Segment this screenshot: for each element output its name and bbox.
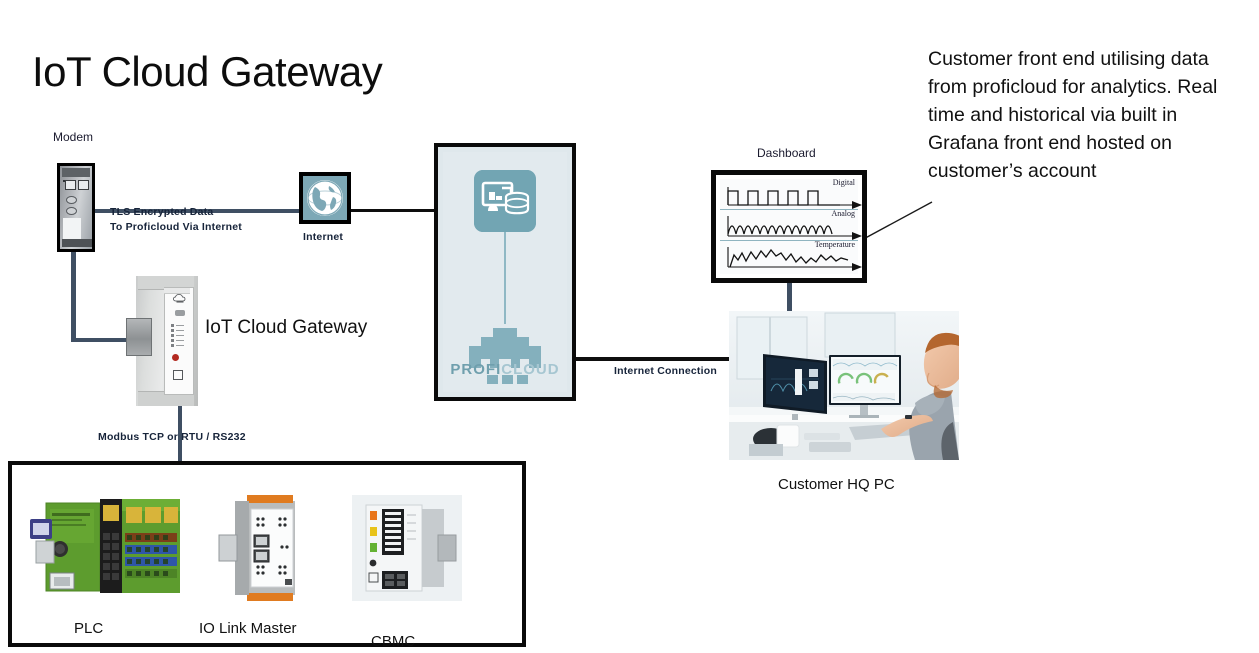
proficloud-panel: PROFICLOUD: [443, 152, 567, 392]
office-scene-illustration: [729, 311, 959, 460]
tls-link-label: TLS Encrypted Data To Proficloud Via Int…: [110, 205, 242, 235]
page-title: IoT Cloud Gateway: [32, 48, 382, 96]
gateway-label: IoT Cloud Gateway: [205, 317, 367, 339]
internet-connection-label: Internet Connection: [614, 364, 717, 379]
wire-proficloud-to-pc: [576, 357, 731, 361]
proficloud-wordmark-cloud: CLOUD: [501, 361, 559, 378]
trace-label-temperature: Temperature: [815, 240, 855, 249]
proficloud-connector-line: [504, 232, 506, 324]
internet-node: [299, 172, 351, 224]
iot-cloud-gateway-device: [126, 276, 200, 406]
wire-dashboard-to-pc: [787, 283, 792, 313]
modem-bottom-strip: [62, 239, 92, 247]
annotation-leader-line: [856, 200, 934, 244]
modem-port: [65, 180, 76, 190]
proficloud-node: PROFICLOUD: [434, 143, 576, 401]
io-link-master-illustration: [217, 495, 313, 601]
trace-analog: Analog: [720, 209, 858, 240]
cbmc-device: [352, 495, 462, 601]
proficloud-wordmark-profi: PROFI: [450, 361, 501, 378]
gateway-led-block: [171, 324, 184, 349]
dashboard-label: Dashboard: [757, 146, 816, 160]
trace-digital: Digital: [720, 179, 858, 209]
gateway-bottom-icon: [173, 370, 183, 380]
modem-port: [78, 180, 89, 190]
cbmc-illustration: [352, 495, 462, 601]
cloud-logo-icon: [173, 294, 187, 303]
modem-top-strip: [62, 168, 90, 177]
modem-ethernet-ports: [65, 180, 89, 190]
gateway-top-label-strip: [164, 288, 190, 294]
plc-device: [26, 493, 186, 603]
modbus-link-label: Modbus TCP or RTU / RS232: [98, 430, 246, 445]
tls-link-label-line1: TLS Encrypted Data: [110, 205, 242, 220]
trace-label-digital: Digital: [833, 178, 855, 187]
trace-temperature: Temperature: [720, 240, 858, 271]
plc-illustration: [26, 493, 186, 603]
wire-modem-down: [71, 252, 76, 342]
gateway-reset-button: [172, 354, 179, 361]
modem-device: [57, 163, 95, 252]
analytics-database-icon: [474, 170, 536, 232]
globe-icon: [307, 180, 343, 216]
dashboard-panel: Digital Analog Temperature: [711, 170, 867, 283]
wire-modem-to-gateway: [71, 338, 133, 342]
customer-pc-photo: [729, 311, 959, 460]
pixel-cloud-icon: [457, 320, 553, 394]
io-link-master-label: IO Link Master: [199, 620, 297, 637]
proficloud-wordmark: PROFICLOUD: [443, 361, 567, 378]
io-link-master-device: [217, 495, 313, 601]
modem-antenna-socket: [66, 196, 77, 204]
tls-link-label-line2: To Proficloud Via Internet: [110, 220, 242, 235]
gateway-side-connector: [126, 318, 152, 356]
modem-antenna-socket: [66, 207, 77, 215]
gateway-front-panel: [164, 287, 194, 395]
gateway-usb-port: [175, 310, 185, 316]
plc-label: PLC: [74, 620, 103, 637]
customer-pc-label: Customer HQ PC: [778, 476, 895, 493]
cbmc-label: CBMC: [371, 633, 415, 650]
internet-label: Internet: [303, 230, 343, 245]
wire-internet-to-proficloud: [351, 209, 436, 212]
trace-label-analog: Analog: [831, 209, 855, 218]
annotation-text: Customer front end utilising data from p…: [928, 45, 1228, 185]
modem-label: Modem: [53, 130, 93, 144]
dashboard-inner: Digital Analog Temperature: [720, 179, 858, 274]
field-devices-box: PLC IO: [8, 461, 526, 647]
